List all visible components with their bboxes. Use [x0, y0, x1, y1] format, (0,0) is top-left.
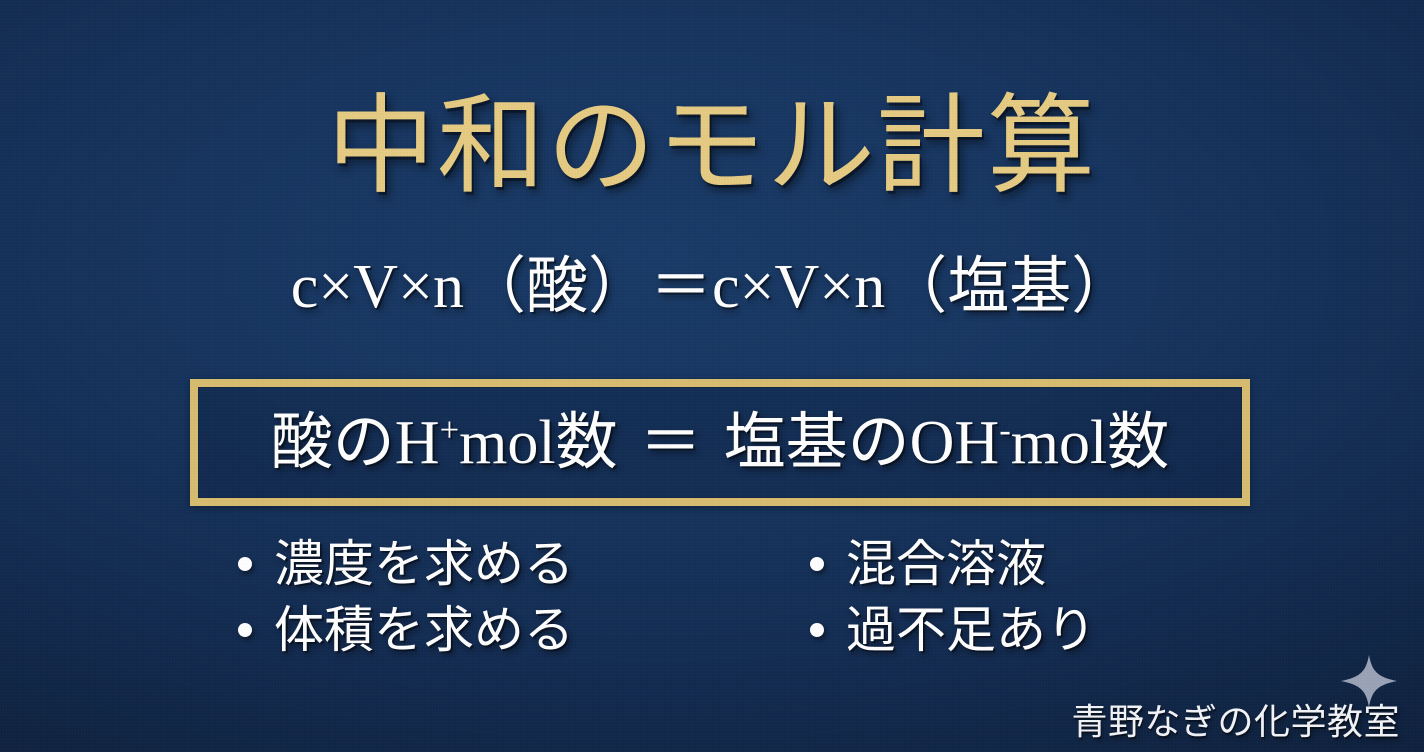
bullet-dot-icon [238, 623, 252, 637]
neutralization-equation: c×V×n（酸）＝c×V×n（塩基） [0, 252, 1424, 323]
list-item: 濃度を求める [238, 535, 718, 593]
slide-canvas: 中和のモル計算 c×V×n（酸）＝c×V×n（塩基） 酸のH+mol数＝塩基のO… [0, 0, 1424, 752]
mole-balance-formula: 酸のH+mol数＝塩基のOH-mol数 [271, 412, 1169, 474]
list-item-label: 過不足あり [846, 601, 1096, 659]
list-item-label: 濃度を求める [274, 535, 574, 593]
bullet-dot-icon [810, 557, 824, 571]
formula-equals-sign: ＝ [640, 409, 702, 477]
bullet-column-right: 混合溶液 過不足あり [810, 535, 1096, 659]
page-title: 中和のモル計算 [0, 88, 1424, 209]
channel-watermark: 青野なぎの化学教室 [1071, 701, 1400, 744]
list-item: 過不足あり [810, 601, 1096, 659]
base-charge-superscript: - [999, 410, 1011, 449]
acid-term-label: 酸のH [271, 409, 440, 477]
list-item: 体積を求める [238, 601, 718, 659]
acid-charge-superscript: + [440, 410, 460, 449]
bullet-dot-icon [810, 623, 824, 637]
list-item-label: 混合溶液 [846, 535, 1046, 593]
base-term-label: 塩基のOH [724, 409, 1000, 477]
bullet-column-left: 濃度を求める 体積を求める [238, 535, 718, 659]
highlight-box-content: 酸のH+mol数＝塩基のOH-mol数 [198, 387, 1242, 498]
list-item-label: 体積を求める [274, 601, 574, 659]
highlight-box: 酸のH+mol数＝塩基のOH-mol数 [190, 379, 1250, 506]
acid-term-unit: mol数 [459, 409, 617, 477]
bullet-dot-icon [238, 557, 252, 571]
base-term-unit: mol数 [1011, 409, 1169, 477]
list-item: 混合溶液 [810, 535, 1096, 593]
bullet-sections: 濃度を求める 体積を求める 混合溶液 過不足あり [0, 535, 1424, 659]
